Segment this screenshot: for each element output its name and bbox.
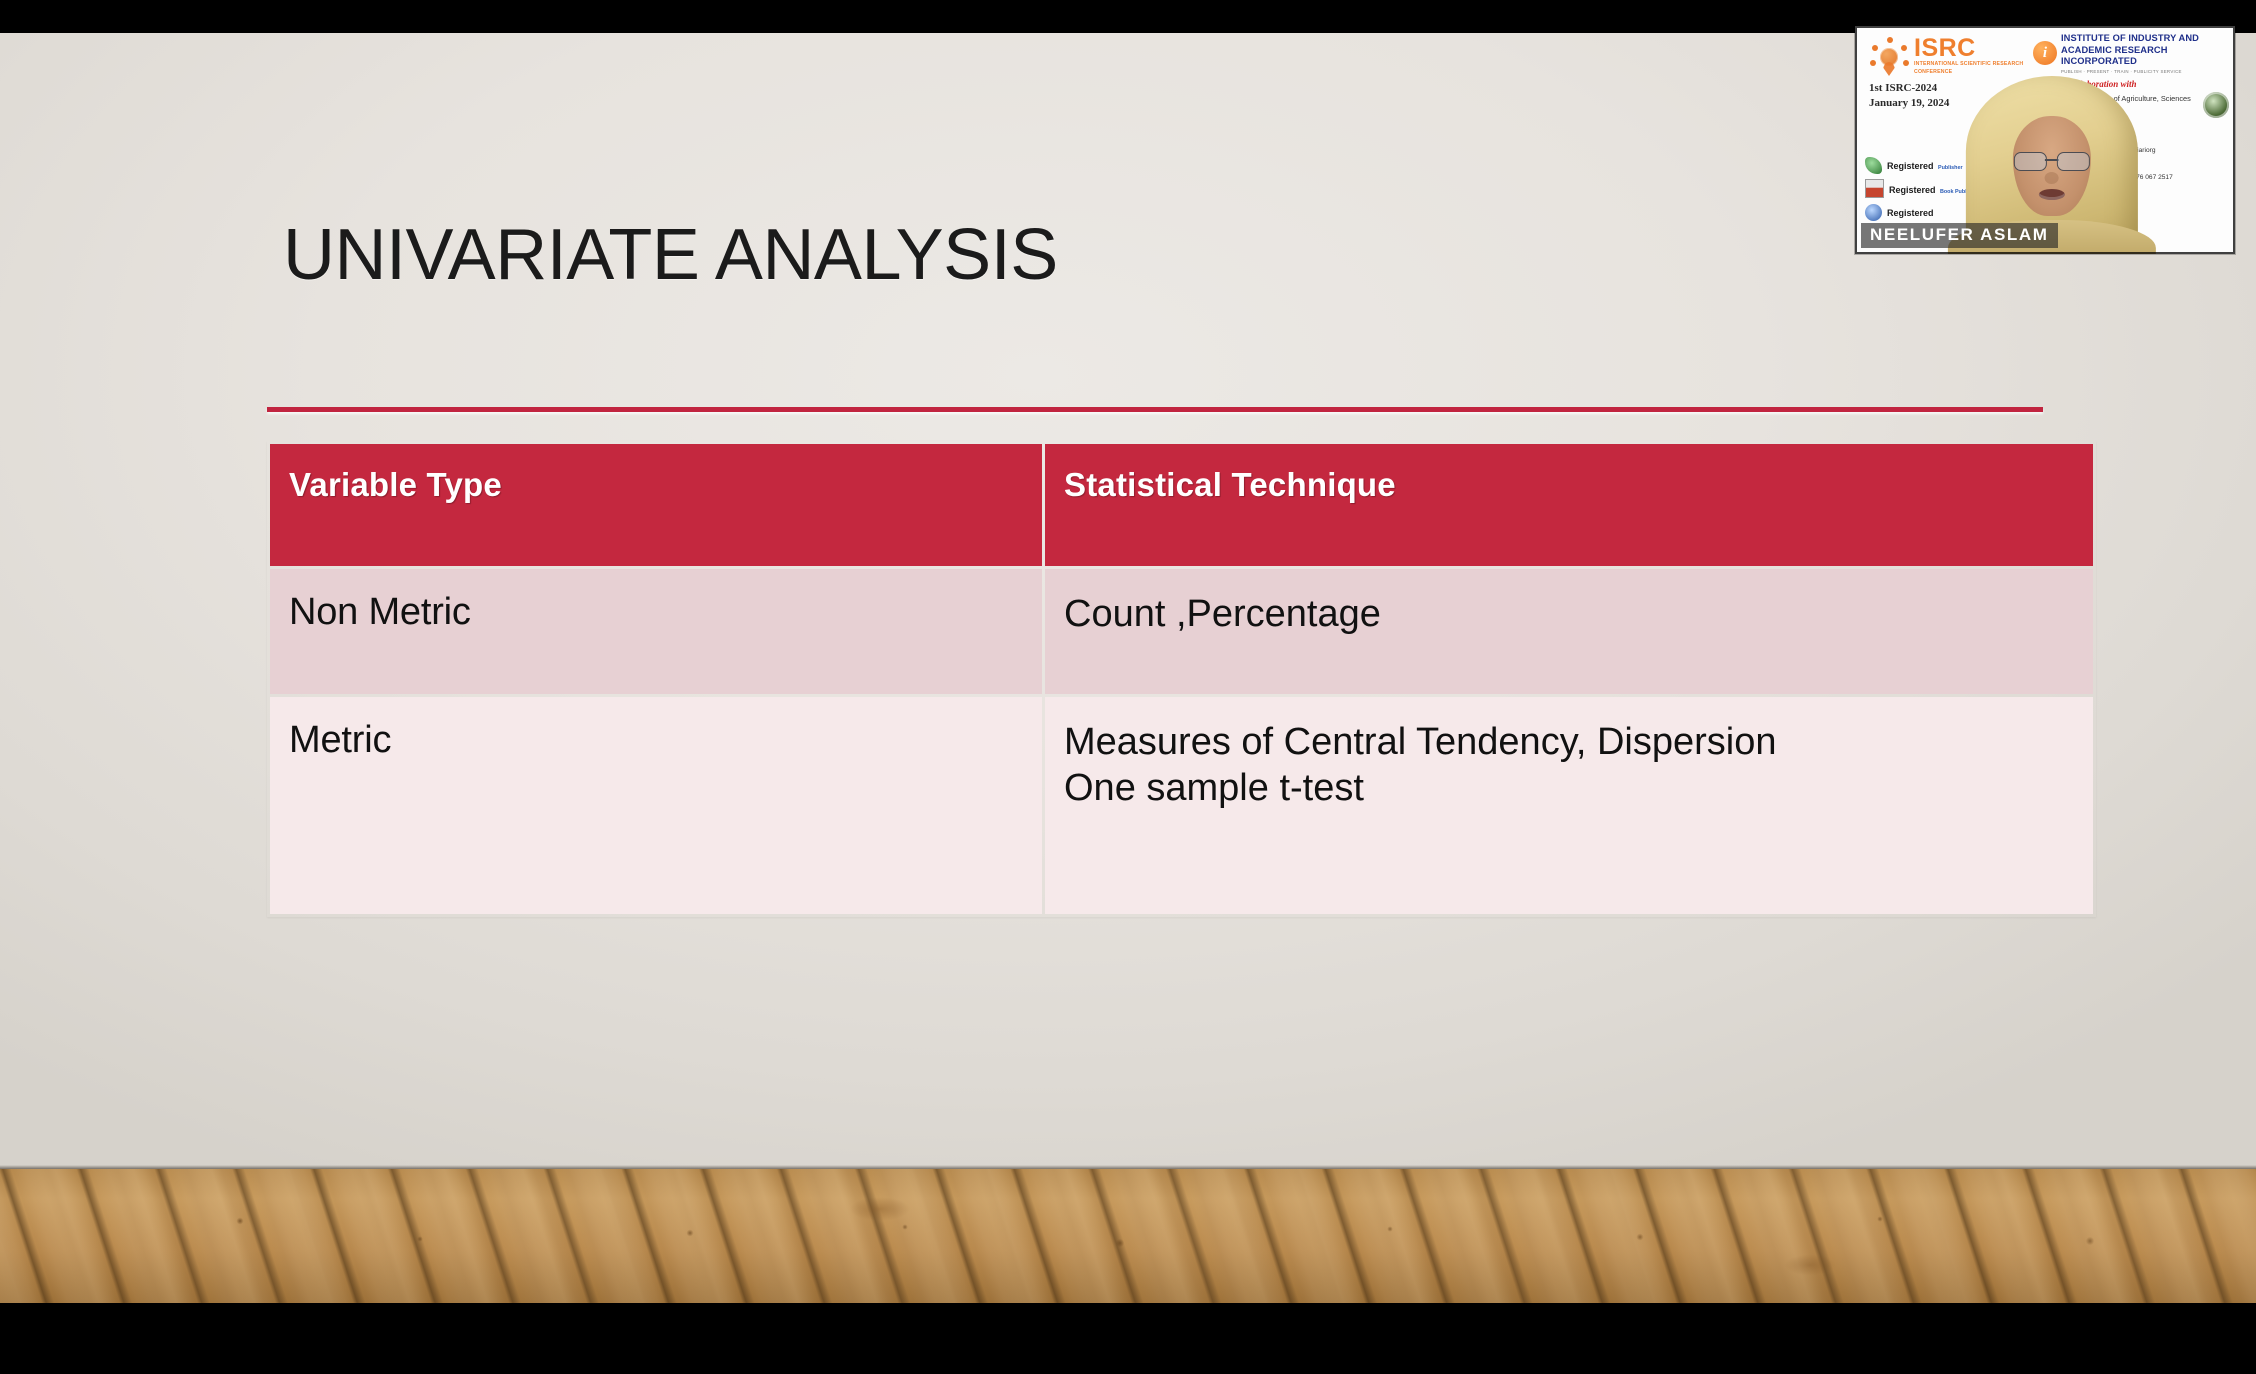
technique-line: Count ,Percentage — [1064, 591, 2093, 637]
registration-title: Registered — [1887, 161, 1934, 171]
title-divider-rule — [267, 407, 2043, 412]
column-header-variable-type: Variable Type — [270, 444, 1042, 566]
cell-variable-type-metric: Metric — [270, 697, 1042, 914]
page-title: UNIVARIATE ANALYSIS — [283, 219, 1058, 291]
organizer-name: INSTITUTE OF INDUSTRY AND ACADEMIC RESEA… — [2061, 33, 2229, 68]
technique-line: One sample t-test — [1064, 765, 2093, 811]
leaf-icon — [1865, 157, 1882, 174]
table-row: Non Metric Count ,Percentage — [270, 569, 2093, 694]
floor-knots — [0, 1169, 2256, 1303]
isrc-acronym: ISRC — [1914, 36, 2029, 61]
isrc-expansion: INTERNATIONAL SCIENTIFIC RESEARCH CONFER… — [1914, 61, 2029, 75]
glasses-icon — [2014, 152, 2090, 169]
technique-line: Measures of Central Tendency, Dispersion — [1064, 719, 2093, 765]
presenter-webcam-tile[interactable]: ISRC INTERNATIONAL SCIENTIFIC RESEARCH C… — [1855, 26, 2235, 254]
isrc-network-globe-icon — [1869, 36, 1909, 76]
table-row: Metric Measures of Central Tendency, Dis… — [270, 697, 2093, 914]
organizer-tagline: PUBLISH · PRESENT · TRAIN · PUBLICITY SE… — [2061, 69, 2229, 74]
column-header-statistical-technique: Statistical Technique — [1045, 444, 2093, 566]
cell-technique-metric: Measures of Central Tendency, Dispersion… — [1045, 697, 2093, 914]
room-wooden-floor — [0, 1169, 2256, 1303]
table-header-row: Variable Type Statistical Technique — [270, 444, 2093, 566]
video-frame: UNIVARIATE ANALYSIS Variable Type Statis… — [0, 0, 2256, 1374]
univariate-analysis-table: Variable Type Statistical Technique Non … — [267, 441, 2096, 917]
registration-title: Registered — [1887, 208, 1934, 218]
registration-subtitle: Publisher — [1938, 165, 1963, 171]
seal-icon — [1865, 204, 1882, 221]
registration-title: Registered — [1889, 185, 1936, 195]
cell-technique-non-metric: Count ,Percentage — [1045, 569, 2093, 694]
partner-seal-icon — [2203, 92, 2229, 118]
organizer-badge-icon: i — [2033, 41, 2057, 65]
presenter-nose — [2045, 172, 2059, 184]
cell-variable-type-non-metric: Non Metric — [270, 569, 1042, 694]
presenter-name-label: NEELUFER ASLAM — [1861, 223, 2058, 248]
book-icon — [1865, 179, 1884, 198]
presenter-mouth — [2039, 189, 2065, 200]
